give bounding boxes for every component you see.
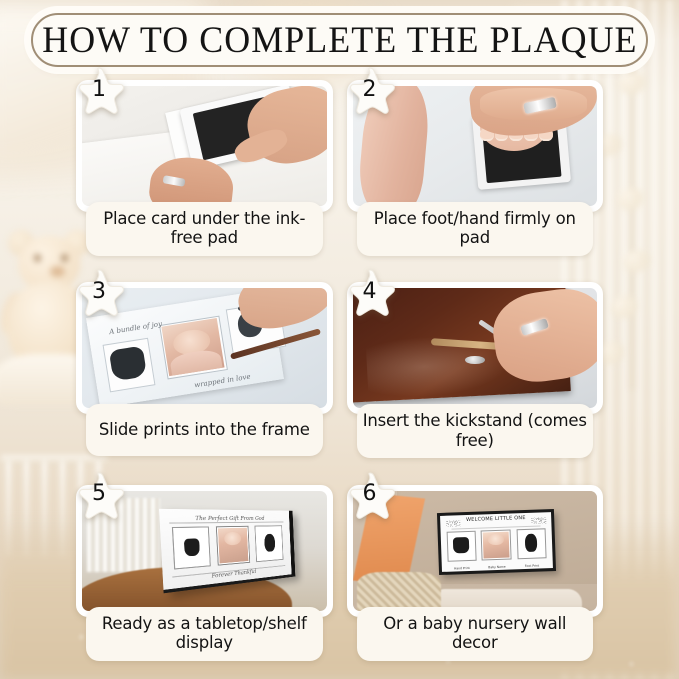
step-card-3: A bundle of joy wrapped in love 3 Slide … [76,280,333,476]
finished-plaque-wall: WELCOME LITTLE ONE Hand Print Baby Name … [437,509,556,575]
wall-plaque-label-name: Baby Name [481,564,513,569]
step-number-1: 1 [73,66,125,116]
step-card-6: WELCOME LITTLE ONE Hand Print Baby Name … [347,483,604,679]
step-badge-4: 4 [344,268,396,318]
page-title-banner: HOW TO COMPLETE THE PLAQUE [31,13,648,67]
plaque-header-text: The Perfect Gift From God [169,515,283,523]
step-number-6: 6 [344,471,396,521]
step-card-2: 2 Place foot/hand firmly on pad [347,78,604,274]
finished-plaque-tabletop: The Perfect Gift From God Forever Thankf… [159,509,295,594]
step-badge-5: 5 [73,471,125,521]
step-card-4: 4 Insert the kickstand (comes free) [347,280,604,476]
step-badge-1: 1 [73,66,125,116]
step-number-2: 2 [344,66,396,116]
step-caption-5: Ready as a tabletop/shelf display [86,607,323,661]
step-caption-1: Place card under the ink-free pad [86,202,323,256]
step-caption-3: Slide prints into the frame [86,404,323,456]
wall-plaque-title: WELCOME LITTLE ONE [451,516,540,529]
step-number-4: 4 [344,268,396,318]
step-card-5: The Perfect Gift From God Forever Thankf… [76,483,333,679]
step-caption-6: Or a baby nursery wall decor [357,607,594,661]
step-badge-3: 3 [73,268,125,318]
step-badge-6: 6 [344,471,396,521]
wall-plaque-label-foot: Foot Print [516,563,547,568]
step-caption-4: Insert the kickstand (comes free) [357,404,594,458]
step-card-1: 1 Place card under the ink-free pad [76,78,333,274]
step-number-3: 3 [73,268,125,318]
step-badge-2: 2 [344,66,396,116]
step-caption-2: Place foot/hand firmly on pad [357,202,594,256]
step-number-5: 5 [73,471,125,521]
steps-grid: 1 Place card under the ink-free pad [0,78,679,679]
page-title: HOW TO COMPLETE THE PLAQUE [42,22,637,59]
wall-plaque-label-hand: Hand Print [446,565,477,570]
